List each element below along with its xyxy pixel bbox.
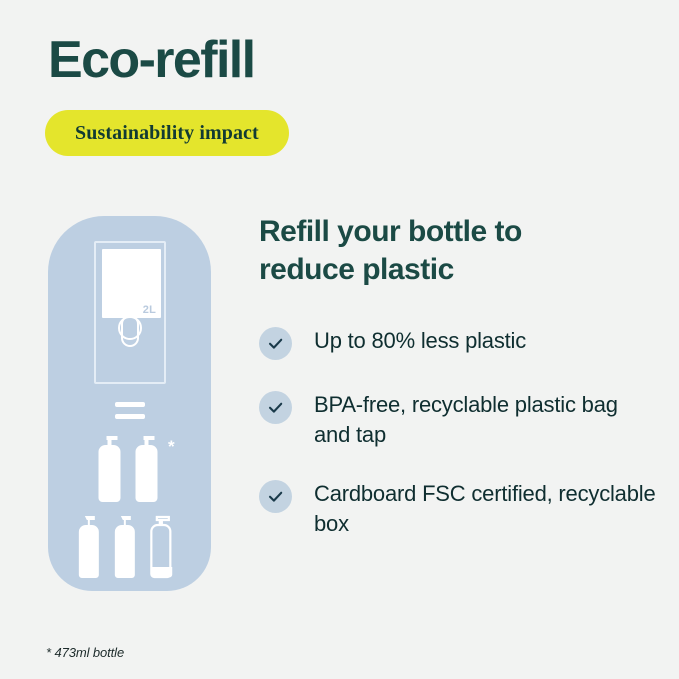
footnote: * 473ml bottle (46, 645, 124, 660)
pump-bottle-icon (109, 514, 141, 582)
illustration-panel: 2L * (48, 216, 211, 591)
bottle-row-top (94, 434, 165, 506)
check-icon (259, 480, 292, 513)
pump-bottle-icon (131, 434, 165, 506)
badge-label: Sustainability impact (75, 122, 259, 145)
tap-icon (113, 304, 147, 348)
page-title: Eco-refill (48, 33, 255, 88)
feature-text: Up to 80% less plastic (314, 326, 526, 356)
pump-bottle-outline-icon (145, 514, 177, 582)
pump-bottle-icon (94, 434, 128, 506)
list-item: Cardboard FSC certified, recyclable box (259, 479, 659, 538)
list-item: BPA-free, recyclable plastic bag and tap (259, 390, 659, 449)
feature-list: Up to 80% less plastic BPA-free, recycla… (259, 326, 659, 539)
asterisk-marker: * (168, 438, 175, 455)
pump-bottle-icon (73, 514, 105, 582)
feature-text: BPA-free, recyclable plastic bag and tap (314, 390, 659, 449)
bottle-row-bottom (73, 514, 177, 582)
check-icon (259, 327, 292, 360)
equals-icon (115, 402, 145, 419)
status-badge: Sustainability impact (45, 110, 289, 156)
feature-text: Cardboard FSC certified, recyclable box (314, 479, 659, 538)
equals-bar-top (115, 402, 145, 407)
list-item: Up to 80% less plastic (259, 326, 659, 360)
eco-refill-infographic: Eco-refill Sustainability impact 2L (0, 0, 679, 679)
content-heading: Refill your bottle to reduce plastic (259, 213, 619, 290)
equals-bar-bottom (115, 414, 145, 419)
check-icon (259, 391, 292, 424)
